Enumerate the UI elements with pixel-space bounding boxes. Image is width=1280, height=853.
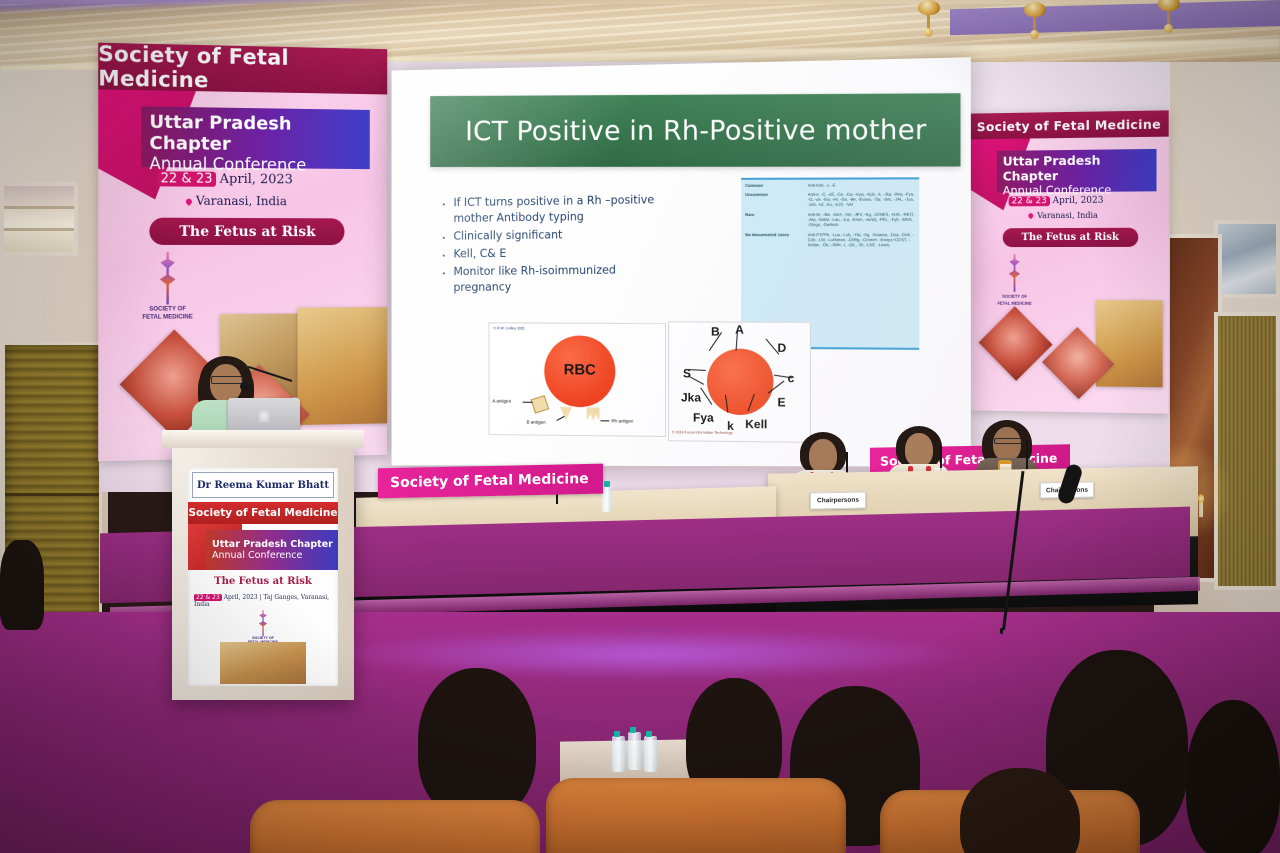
table-cell-category: Uncommon	[745, 192, 808, 207]
podium-speaker-name: Dr Reema Kumar Bhatt	[192, 472, 334, 498]
slide-bullet: Clinically significant	[453, 226, 674, 245]
speaker-laptop	[228, 398, 300, 432]
left-wall-window	[0, 182, 78, 256]
face	[809, 439, 837, 473]
antigen-label-Jka: Jka	[681, 390, 701, 404]
table-row: Rare Anti-M, -Jkb, -Ge3, -Vel, -JFV, -Kg…	[741, 210, 919, 230]
rbc-cell-shape	[707, 349, 773, 416]
slide-bullet-list: If ICT turns positive in a Rh –positive …	[438, 192, 674, 297]
banner-photo-tile	[1096, 300, 1163, 387]
podium-photo-tile	[220, 642, 306, 684]
antigen-label-S: S	[683, 366, 691, 380]
a-antigen-arrow	[523, 402, 533, 403]
table-cell-antibodies: Anti-Kell, -c, -E	[808, 182, 915, 187]
rbc-cell-shape: RBC	[544, 335, 615, 407]
a-antigen-shape	[531, 395, 550, 414]
banner-photo-tile	[297, 307, 387, 425]
conference-banner-right: Society of Fetal Medicine Uttar Pradesh …	[969, 110, 1168, 413]
antigen-copyright: © 2014 Focus Information Technology	[672, 430, 733, 435]
rh-antigen-label: Rh antigen	[611, 418, 633, 423]
left-wall	[0, 70, 108, 590]
banner-society-title: Society of Fetal Medicine	[969, 110, 1168, 139]
podium: Dr Reema Kumar Bhatt Society of Fetal Me…	[172, 442, 354, 700]
podium-society: Society of Fetal Medicine	[188, 502, 338, 524]
banner-location-text: Varanasi, India	[196, 194, 287, 209]
glasses-icon	[994, 438, 1022, 444]
stage-skirt-banner-text: Society of Fetal Medicine	[378, 471, 589, 491]
banner-date: 22 & 23 April, 2023	[1009, 196, 1104, 207]
b-antigen-label: B antigen	[527, 420, 546, 425]
banner-theme: The Fetus at Risk	[1003, 228, 1139, 247]
podium-date-chip: 22 & 23	[194, 594, 222, 601]
audience-member	[0, 540, 44, 630]
table-cell-antibodies: Anti-P1PPk, -Lua, -Lub, -Yta, -Xg, -Scia…	[808, 232, 915, 247]
podium-chapter-line1: Uttar Pradesh Chapter	[212, 539, 338, 550]
podium-chapter-block: Uttar Pradesh Chapter Annual Conference	[206, 530, 338, 570]
slide-title-bar: ICT Positive in Rh-Positive mother	[430, 93, 960, 167]
caduceus-icon	[255, 610, 271, 636]
banner-location: Varanasi, India	[1028, 211, 1098, 220]
podium-when-where: 22 & 23 April, 2023 | Taj Ganges, Varana…	[194, 594, 334, 608]
a-antigen-label: A antigen	[492, 399, 511, 404]
slide-bullet: If ICT turns positive in a Rh –positive …	[453, 192, 674, 227]
podium-theme: The Fetus at Risk	[188, 576, 338, 587]
stage-skirt-banner: Society of Fetal Medicine	[378, 464, 603, 499]
podium-microphone	[240, 382, 249, 391]
banner-chapter-block: Uttar Pradesh Chapter Annual Conference	[997, 149, 1157, 193]
audience-chair	[250, 800, 540, 853]
audience-chair	[546, 778, 846, 853]
rh-antigen-arrow	[600, 420, 609, 421]
banner-date: 22 & 23 April, 2023	[158, 171, 293, 187]
table-row: No documented cases Anti-P1PPk, -Lua, -L…	[741, 230, 919, 250]
location-pin-icon	[185, 197, 194, 206]
logo-text-line1: SOCIETY OF	[985, 294, 1044, 299]
projection-screen: ICT Positive in Rh-Positive mother If IC…	[392, 57, 971, 466]
banner-date-text: April, 2023	[220, 172, 293, 188]
antigen-label-E: E	[777, 395, 785, 409]
water-bottle	[612, 736, 625, 772]
pendant-light-icon	[912, 0, 946, 40]
location-pin-icon	[1027, 212, 1034, 219]
podium-top	[162, 430, 364, 448]
podium-logo: SOCIETY OF FETAL MEDICINE	[188, 610, 338, 644]
caduceus-icon	[1004, 254, 1026, 292]
society-logo: SOCIETY OF FETAL MEDICINE	[985, 254, 1044, 306]
banner-location: Varanasi, India	[186, 194, 287, 209]
banner-photo-tile	[979, 306, 1053, 381]
audience-member	[418, 668, 536, 818]
banner-theme: The Fetus at Risk	[149, 218, 344, 245]
rbc-antigen-diagram: © R.W. Collins 2001 RBC A antigen B anti…	[489, 322, 667, 437]
face	[993, 427, 1021, 461]
stage-uplight	[330, 628, 970, 680]
antigen-label-c: c	[788, 371, 795, 385]
table-cell-antibodies: Anti-e, -C, -cE, -Ce, -Cw, -Kpa, -Kpb, -…	[808, 192, 915, 207]
antigen-label-Fya: Fya	[693, 410, 714, 424]
banner-chapter-line1: Uttar Pradesh Chapter	[1003, 152, 1157, 184]
banner-location-text: Varanasi, India	[1037, 211, 1098, 220]
table-row: Uncommon Anti-e, -C, -cE, -Ce, -Cw, -Kpa…	[741, 189, 919, 210]
audience-member	[1186, 700, 1280, 853]
nameplate-chairpersons: Chairpersons	[810, 492, 866, 510]
podium-chapter-line2: Annual Conference	[212, 550, 338, 561]
water-bottle	[602, 486, 611, 512]
slide-bullet: Kell, C& E	[453, 244, 674, 262]
table-cell-category: Rare	[745, 212, 808, 227]
antigen-label-Kell: Kell	[745, 417, 767, 431]
antigen-map-diagram: B A D c E Kell k Fya Jka S © 2014 Focus …	[668, 321, 811, 443]
rbc-copyright: © R.W. Collins 2001	[493, 326, 525, 330]
pendant-light-icon	[1152, 0, 1186, 36]
banner-date-chip: 22 & 23	[1009, 196, 1050, 206]
society-logo: SOCIETY OF FETAL MEDICINE	[125, 252, 210, 322]
face	[905, 433, 933, 467]
antigen-label-A: A	[735, 323, 744, 337]
rbc-cell-label: RBC	[544, 361, 615, 378]
antigen-label-B: B	[711, 324, 720, 338]
antigen-label-D: D	[777, 341, 786, 355]
conference-hall-scene: Society of Fetal Medicine Uttar Pradesh …	[0, 0, 1280, 853]
patterned-wall-panel	[1214, 312, 1280, 590]
water-bottle	[628, 732, 641, 770]
banner-society-title: Society of Fetal Medicine	[98, 43, 387, 95]
table-row: Common Anti-Kell, -c, -E	[741, 179, 919, 190]
podium-sign: Dr Reema Kumar Bhatt Society of Fetal Me…	[188, 468, 338, 686]
banner-date-chip: 22 & 23	[158, 171, 216, 187]
caduceus-icon	[152, 252, 182, 305]
water-bottle	[644, 736, 657, 772]
banner-chapter-line1: Uttar Pradesh Chapter	[149, 112, 369, 157]
slide-title-text: ICT Positive in Rh-Positive mother	[430, 114, 926, 147]
rh-antigen-shape	[587, 407, 600, 420]
table-cell-antibodies: Anti-M, -Jkb, -Ge3, -Vel, -JFV, -Kg, -JO…	[808, 212, 915, 227]
banner-chapter-block: Uttar Pradesh Chapter Annual Conference	[141, 106, 370, 169]
slide-bullet: Monitor like Rh-isoimmunized pregnancy	[453, 262, 674, 296]
right-wall-window	[1214, 220, 1280, 298]
pendant-light-icon	[1018, 2, 1052, 42]
banner-date-text: April, 2023	[1053, 196, 1104, 206]
table-cell-category: No documented cases	[745, 232, 808, 247]
glasses-icon	[211, 376, 243, 384]
table-cell-category: Common	[745, 182, 808, 187]
logo-text-line2: FETAL MEDICINE	[125, 314, 210, 322]
